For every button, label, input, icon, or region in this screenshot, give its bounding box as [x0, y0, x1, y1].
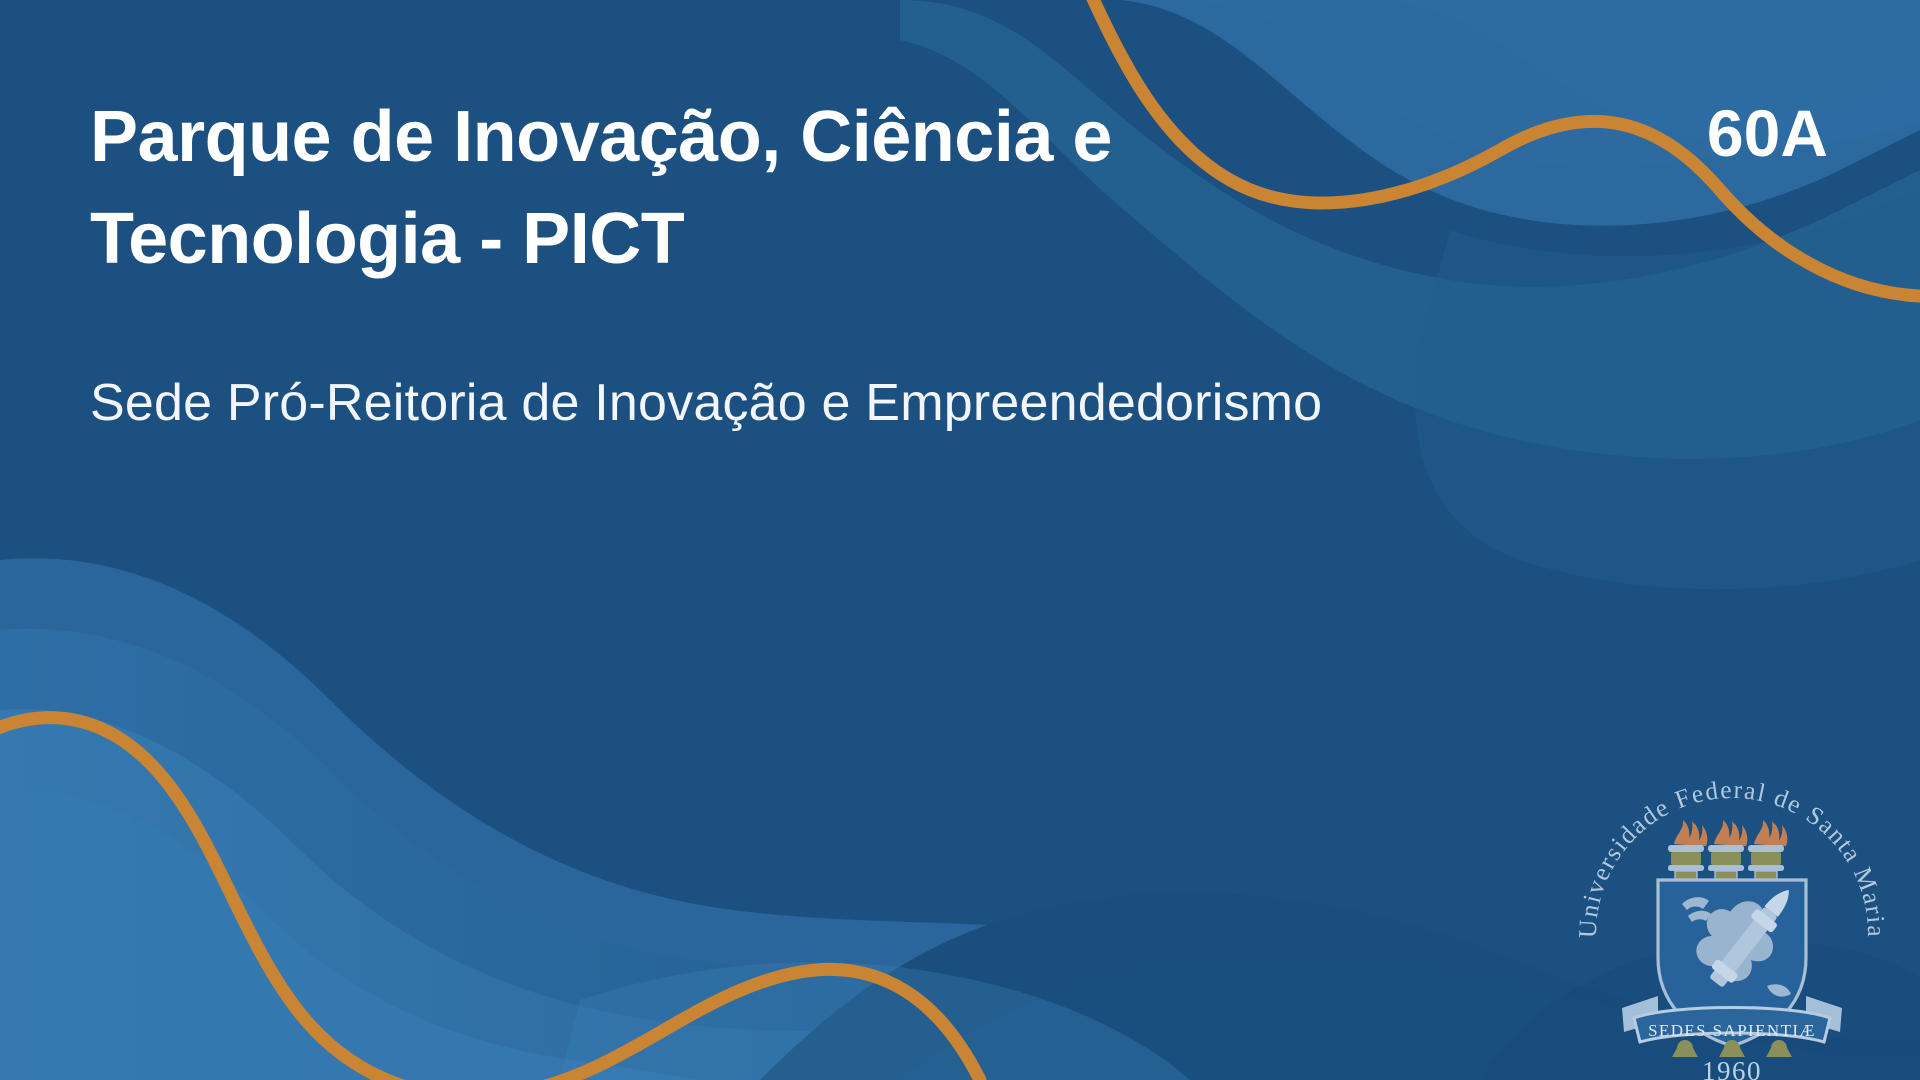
torch-left-icon [1668, 820, 1707, 885]
motto-text: SEDES SAPIENTIÆ [1648, 1021, 1816, 1040]
slide-canvas: Parque de Inovação, Ciência e Tecnologia… [0, 0, 1920, 1080]
logo-year: 1960 [1702, 1056, 1762, 1080]
slide-content: Parque de Inovação, Ciência e Tecnologia… [0, 0, 1920, 1080]
torch-group [1668, 820, 1787, 885]
anniversary-badge: 60A [1707, 100, 1828, 166]
shield-icon: SEDES SAPIENTIÆ [1622, 880, 1842, 1057]
floret-left-icon [1672, 1040, 1698, 1057]
title-block: Parque de Inovação, Ciência e Tecnologia… [90, 86, 1290, 290]
torch-right-icon [1748, 820, 1787, 885]
page-title: Parque de Inovação, Ciência e Tecnologia… [90, 86, 1290, 290]
floret-group [1672, 1040, 1792, 1057]
torch-center-icon [1708, 820, 1747, 885]
page-subtitle: Sede Pró-Reitoria de Inovação e Empreend… [90, 370, 1322, 438]
ufsm-logo: Universidade Federal de Santa Maria [1562, 746, 1902, 1080]
floret-right-icon [1766, 1040, 1792, 1057]
